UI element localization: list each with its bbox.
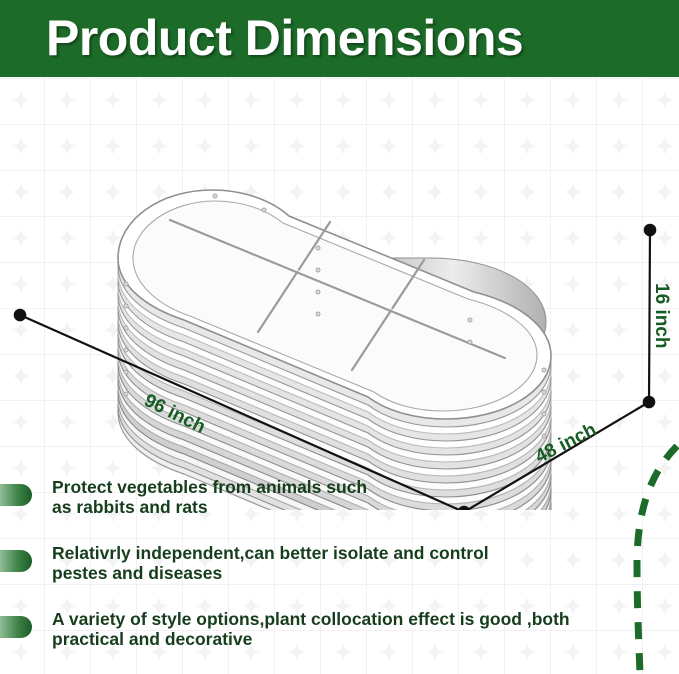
feature-text: A variety of style options,plant colloca… <box>52 610 570 649</box>
header-banner: Product Dimensions <box>0 0 679 77</box>
feature-item: A variety of style options,plant colloca… <box>0 610 679 674</box>
feature-text: Protect vegetables from animals such as … <box>52 478 367 517</box>
dimension-endpoint-left <box>15 310 25 320</box>
page-title: Product Dimensions <box>46 7 523 69</box>
infographic-page: Product Dimensions <box>0 0 679 674</box>
feature-item: Relativrly independent,can better isolat… <box>0 544 679 610</box>
feature-item: Protect vegetables from animals such as … <box>0 478 679 544</box>
bullet-pill-icon <box>0 616 32 638</box>
bullet-pill-icon <box>0 484 32 506</box>
dimension-endpoint-bottom-right <box>644 397 654 407</box>
garden-bed-body <box>118 190 551 510</box>
dimension-label-height: 16 inch <box>650 283 672 348</box>
feature-list: Protect vegetables from animals such as … <box>0 478 679 674</box>
feature-text: Relativrly independent,can better isolat… <box>52 544 489 583</box>
bed-wall <box>118 190 551 510</box>
dimension-endpoint-top-right <box>645 225 655 235</box>
bullet-pill-icon <box>0 550 32 572</box>
